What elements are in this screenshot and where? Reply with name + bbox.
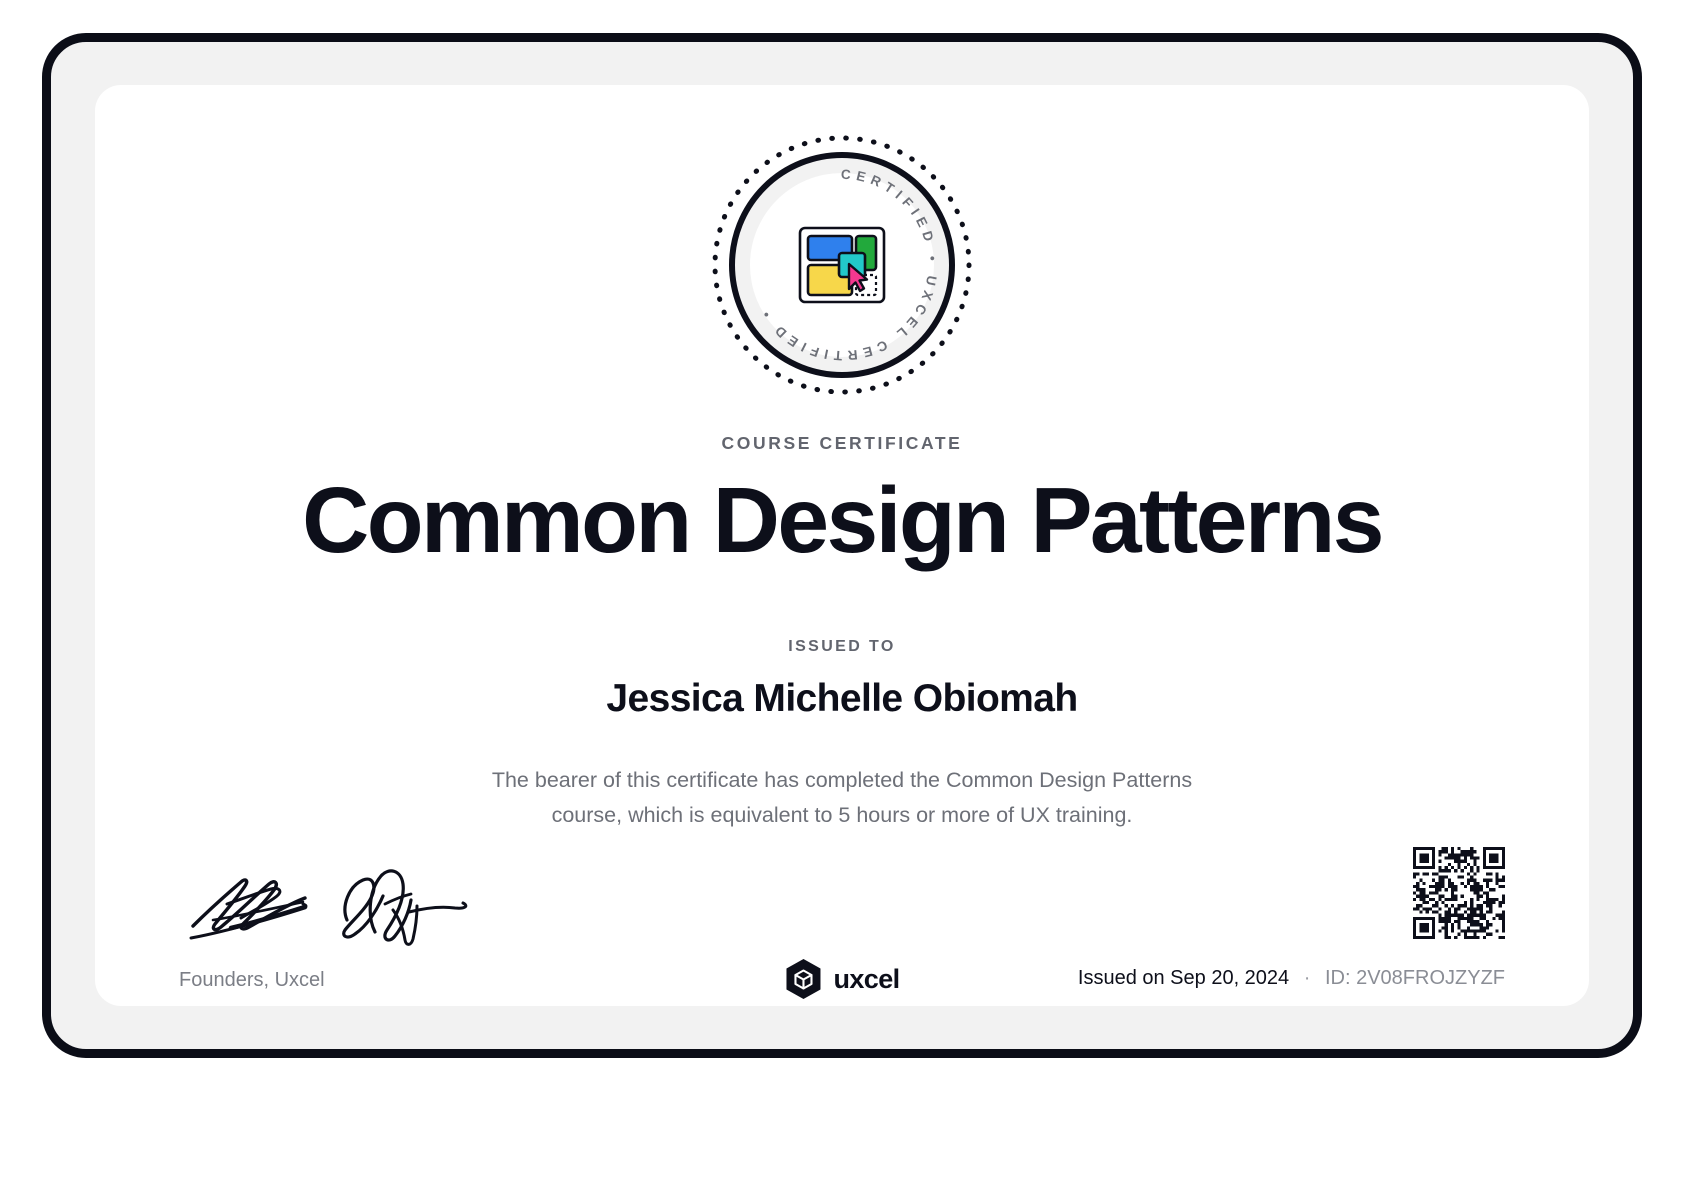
description-line-1: The bearer of this certificate has compl… xyxy=(432,763,1252,798)
certificate-card: UXCEL CERTIFIED • UXCEL CERTIFIED • COUR… xyxy=(95,85,1589,1006)
signature-role-label: Founders, Uxcel xyxy=(179,969,325,992)
uxcel-cube-logo xyxy=(784,958,822,1000)
description-line-2: course, which is equivalent to 5 hours o… xyxy=(432,798,1252,833)
founder-signatures xyxy=(179,860,479,952)
certificate-frame: UXCEL CERTIFIED • UXCEL CERTIFIED • COUR… xyxy=(42,33,1642,1058)
recipient-name: Jessica Michelle Obiomah xyxy=(95,677,1589,721)
signature-marks xyxy=(179,860,479,952)
design-patterns-layout-icon xyxy=(800,228,884,302)
issue-metadata: Issued on Sep 20, 2024 · ID: 2V08FROJZYZ… xyxy=(1078,967,1505,990)
certification-seal: UXCEL CERTIFIED • UXCEL CERTIFIED • xyxy=(708,131,976,399)
issued-to-label: ISSUED TO xyxy=(95,638,1589,656)
uxcel-brand-logo: uxcel xyxy=(784,958,899,1000)
certificate-description: The bearer of this certificate has compl… xyxy=(432,763,1252,833)
qr-graphic xyxy=(1413,847,1505,939)
issue-date: Issued on Sep 20, 2024 xyxy=(1078,967,1289,989)
page-eyebrow: COURSE CERTIFICATE xyxy=(95,433,1589,454)
brand-wordmark: uxcel xyxy=(833,964,899,995)
certificate-id: ID: 2V08FROJZYZF xyxy=(1325,967,1505,989)
seal-graphic: UXCEL CERTIFIED • UXCEL CERTIFIED • xyxy=(708,131,976,399)
verification-qr-code[interactable] xyxy=(1413,847,1505,939)
meta-separator: · xyxy=(1304,967,1311,989)
page-title: Common Design Patterns xyxy=(95,470,1589,570)
